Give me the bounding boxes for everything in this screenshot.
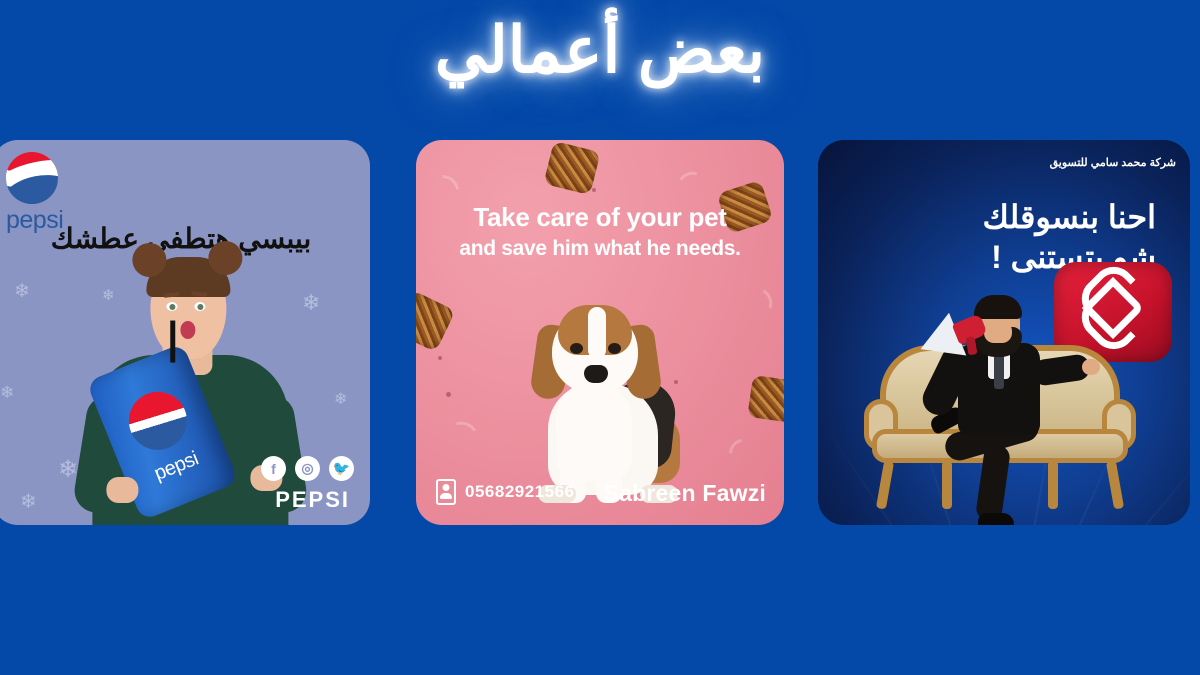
twitter-icon[interactable]: 🐦 [329,456,354,481]
kibble-icon [416,290,456,352]
snowflake-icon: ❄ [20,492,37,512]
sofa-leg [876,460,894,509]
dog-nose [584,365,608,383]
can-pepsi-globe-icon [120,383,196,459]
phone-number: 05682921566 [465,482,575,502]
contact-card-icon [436,479,456,505]
straw-icon [170,321,175,363]
social-icons[interactable]: f ◎ 🐦 [261,456,354,481]
hair-bun-right [208,241,242,275]
dog-blaze [588,307,606,359]
decor-swoosh [675,168,707,198]
pepsi-globe-icon [6,152,58,204]
woman-holding-can-photo: pepsi [84,255,294,525]
kibble-icon [543,141,600,195]
businessman-photo [936,299,1066,509]
portfolio-card-pet-care[interactable]: Take care of your pet and save him what … [416,140,784,525]
portfolio-card-pepsi[interactable]: ❄ ❄ ❄ ❄ ❄ ❄ ❄ ❄ pepsi بيبسي هتطفي عطشك [0,140,370,525]
portfolio-card-marketing[interactable]: شركة محمد سامي للتسويق احنا بنسوقلك شو ب… [818,140,1190,525]
decor-dot [438,356,442,360]
pet-headline-line1: Take care of your pet [416,202,784,233]
decor-dot [592,188,596,192]
decor-swoosh [744,285,776,320]
pepsi-footer-brand: PEPSI [275,487,350,513]
eye-right [194,302,205,311]
megaphone-grip [966,336,978,355]
shoe-lower [978,513,1014,525]
dog-eye-left [570,343,583,354]
snowflake-icon: ❄ [14,282,30,301]
snowflake-icon: ❄ [302,292,320,314]
heart-icon [1082,277,1144,339]
page-title: بعض أعمالي [0,14,1200,88]
decor-dot [446,392,451,397]
dog-eye-right [608,343,621,354]
agency-brand-name: شركة محمد سامي للتسويق [1050,156,1176,169]
contact-phone[interactable]: 05682921566 [436,479,575,505]
beagle-dog-photo [500,303,700,503]
designer-credit: Sabreen Fawzi [604,480,766,507]
hand-right [1082,359,1100,375]
eye-left [166,302,177,311]
mouth [180,321,195,339]
marketing-headline-line1: احنا بنسوقلك [983,198,1156,237]
instagram-icon[interactable]: ◎ [295,456,320,481]
decor-swoosh [445,418,481,451]
pepsi-headline: بيبسي هتطفي عطشك [0,222,370,255]
sofa-leg [1106,460,1124,509]
portfolio-gallery: ❄ ❄ ❄ ❄ ❄ ❄ ❄ ❄ pepsi بيبسي هتطفي عطشك [0,140,1200,530]
hand-left [106,477,138,503]
hair-bun-left [132,243,166,277]
pet-headline-line2: and save him what he needs. [416,237,784,261]
facebook-icon[interactable]: f [261,456,286,481]
snowflake-icon: ❄ [334,392,347,408]
can-label: pepsi [151,448,202,486]
decor-swoosh [724,434,758,468]
kibble-icon [747,375,784,423]
snowflake-icon: ❄ [58,458,78,482]
snowflake-icon: ❄ [0,384,14,401]
